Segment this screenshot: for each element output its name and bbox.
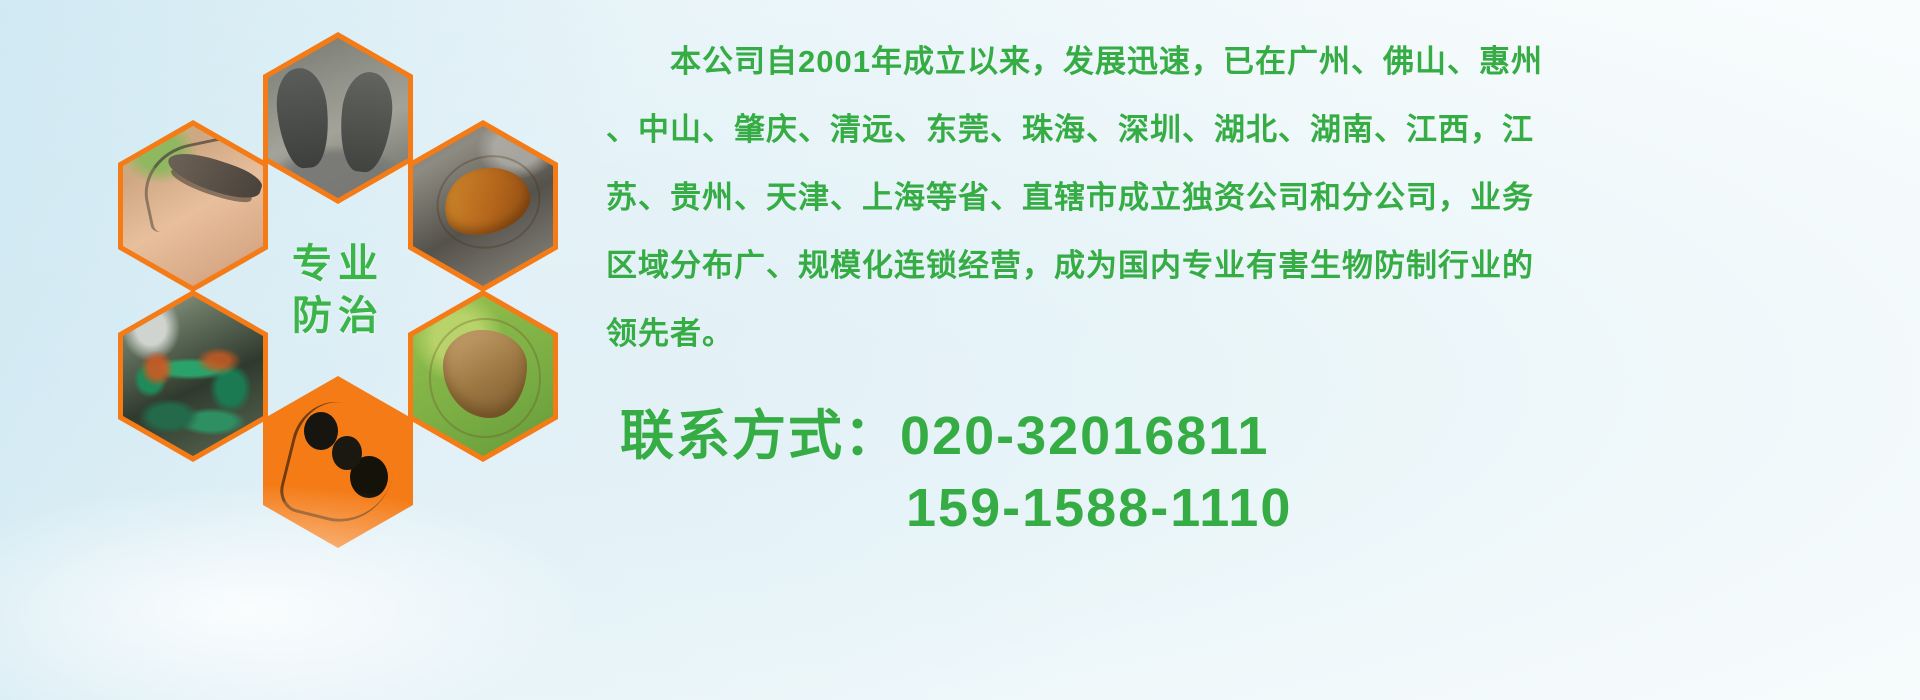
contact-phone-primary[interactable]: 联系方式：020-32016811: [620, 400, 1870, 472]
hex-image-ant: [268, 382, 408, 542]
description-line-4: 区域分布广、规模化连锁经营，成为国内专业有害生物防制行业的: [606, 238, 1876, 294]
hex-image-stink-bug: [413, 296, 553, 456]
hex-cell-ant: [263, 376, 413, 548]
hex-cell-mosquito: [118, 120, 268, 292]
promo-banner: 专业 防治 本公司自2001年成立以来，发展迅速，已在广州、佛山、惠州 、中山、…: [0, 0, 1920, 700]
honeycomb-gallery: 专业 防治: [80, 8, 600, 568]
description-line-3: 苏、贵州、天津、上海等省、直辖市成立独资公司和分公司，业务: [606, 170, 1876, 226]
description-line-2: 、中山、肇庆、清远、东莞、珠海、深圳、湖北、湖南、江西，江: [606, 102, 1876, 158]
hex-cell-flies: [118, 290, 268, 462]
honeycomb-center-label: 专业 防治: [263, 204, 413, 376]
contact-block: 联系方式：020-32016811 159-1588-1110: [620, 400, 1870, 544]
flies-photo: [123, 296, 263, 456]
hex-image-rats: [268, 38, 408, 198]
description-line-1: 本公司自2001年成立以来，发展迅速，已在广州、佛山、惠州: [606, 34, 1876, 90]
hex-cell-cockroach: [408, 120, 558, 292]
description-line-5: 领先者。: [606, 306, 1876, 362]
hex-image-mosquito: [123, 126, 263, 286]
ant-photo: [268, 382, 408, 542]
hex-cell-stink-bug: [408, 290, 558, 462]
hex-cell-rats: [263, 32, 413, 204]
rats-photo: [268, 38, 408, 198]
company-description: 本公司自2001年成立以来，发展迅速，已在广州、佛山、惠州 、中山、肇庆、清远、…: [606, 34, 1876, 374]
mosquito-photo: [123, 126, 263, 286]
hex-image-cockroach: [413, 126, 553, 286]
cockroach-photo: [413, 126, 553, 286]
stink-bug-photo: [413, 296, 553, 456]
honeycomb-label-line2: 防治: [292, 296, 384, 336]
contact-phone-secondary[interactable]: 159-1588-1110: [620, 472, 1870, 544]
honeycomb-label-line1: 专业: [292, 244, 384, 284]
hex-image-flies: [123, 296, 263, 456]
